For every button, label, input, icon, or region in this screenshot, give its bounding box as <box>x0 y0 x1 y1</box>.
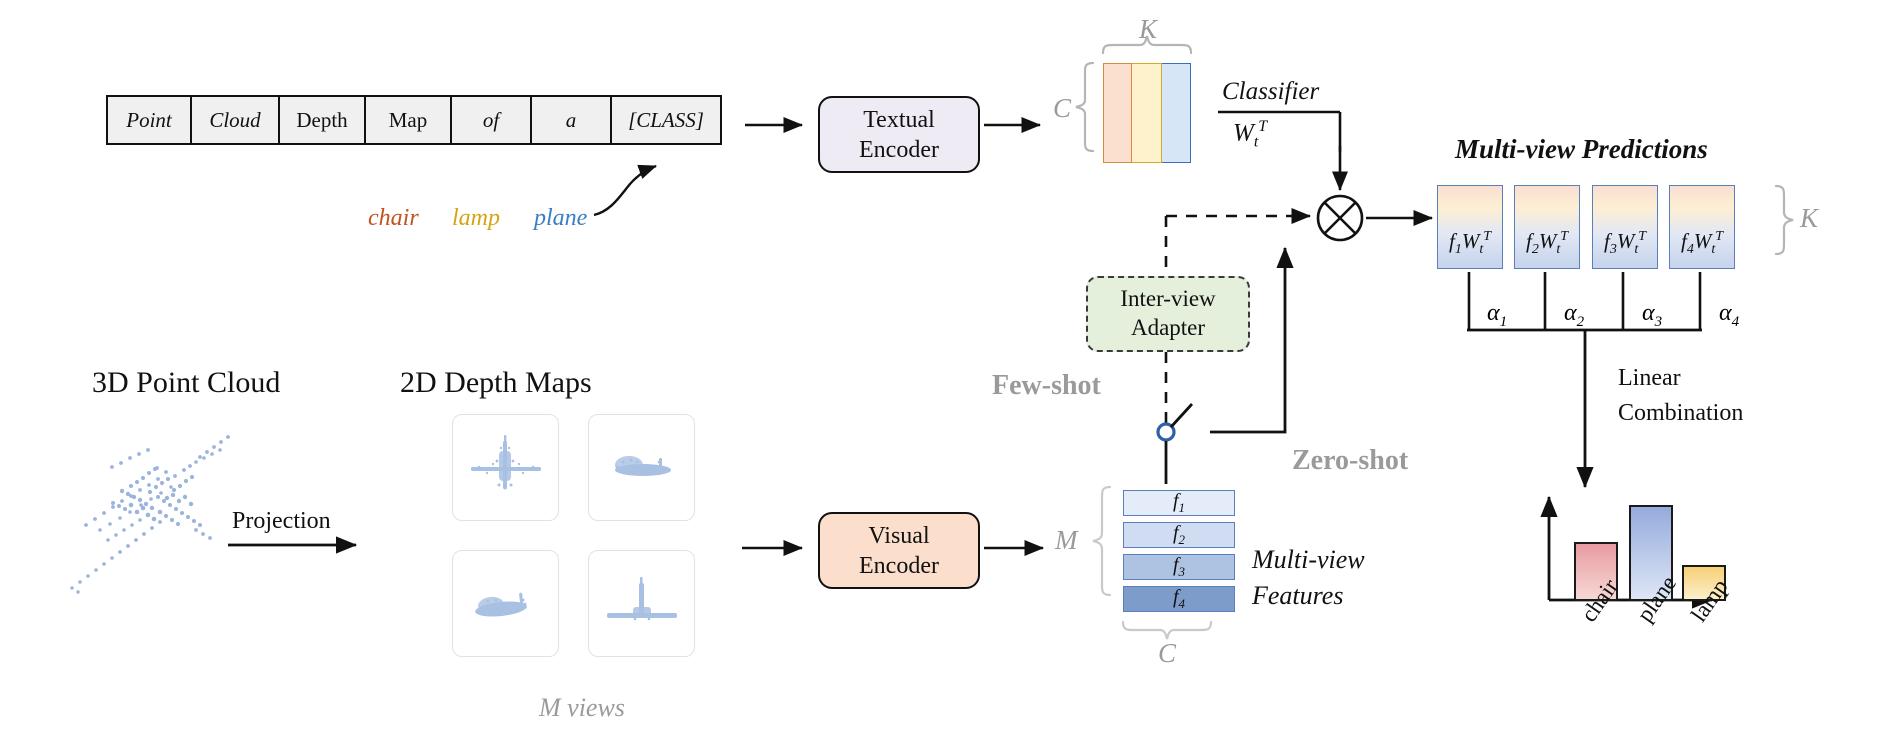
chart-xtick-chair: chair <box>1576 574 1624 627</box>
textual-encoder-label-line1: Textual <box>863 105 935 135</box>
textual-encoder-label-line2: Encoder <box>859 135 939 165</box>
depth-map-view-3[interactable] <box>452 550 559 657</box>
predictions-dim-k-label: K <box>1800 203 1818 234</box>
prompt-token-of[interactable]: of <box>452 97 532 143</box>
figure-canvas: Point Cloud Depth Map of a [CLASS] chair… <box>0 0 1882 746</box>
prompt-token-cloud[interactable]: Cloud <box>192 97 280 143</box>
multi-view-features-title-line1: Multi-view <box>1252 545 1365 575</box>
multi-view-features-title-line2: Features <box>1252 581 1343 611</box>
prompt-token-depth[interactable]: Depth <box>280 97 366 143</box>
alpha-weight-3: α3 <box>1642 300 1662 331</box>
prompt-token-a[interactable]: a <box>532 97 612 143</box>
adapter-label-line1: Inter-view <box>1120 285 1215 314</box>
linear-combination-line2: Combination <box>1618 400 1743 427</box>
visual-encoder-box[interactable]: Visual Encoder <box>818 512 980 589</box>
alpha-weight-1: α1 <box>1487 300 1507 331</box>
alpha-weight-2: α2 <box>1564 300 1584 331</box>
classifier-weight-symbol: W <box>1233 119 1254 146</box>
depth-maps-title: 2D Depth Maps <box>400 366 592 400</box>
feature-bar-4-label: f4 <box>1173 586 1185 612</box>
classifier-dim-c-label: C <box>1053 93 1071 124</box>
classifier-title: Classifier <box>1222 78 1319 106</box>
class-word-lamp[interactable]: lamp <box>452 205 500 232</box>
depth-map-view-4[interactable] <box>588 550 695 657</box>
prompt-token-point[interactable]: Point <box>108 97 192 143</box>
prompt-token-class[interactable]: [CLASS] <box>612 97 720 143</box>
feature-bar-3-label: f3 <box>1173 554 1185 580</box>
adapter-label-line2: Adapter <box>1131 314 1205 343</box>
feature-bar-3[interactable]: f3 <box>1123 554 1235 580</box>
chart-xtick-lamp: lamp <box>1686 574 1734 627</box>
features-dim-m-label: M <box>1055 525 1078 556</box>
prediction-box-3[interactable]: f3WtT <box>1592 185 1658 269</box>
feature-bar-2-label: f2 <box>1173 522 1185 548</box>
depth-map-view-4-image <box>589 551 694 656</box>
feature-bar-1[interactable]: f1 <box>1123 490 1235 516</box>
feature-bar-2[interactable]: f2 <box>1123 522 1235 548</box>
depth-map-view-2[interactable] <box>588 414 695 521</box>
chart-xtick-plane: plane <box>1632 571 1682 627</box>
depth-map-view-2-image <box>589 415 694 520</box>
prompt-template-row: Point Cloud Depth Map of a [CLASS] <box>106 95 722 145</box>
point-cloud-title: 3D Point Cloud <box>92 366 280 400</box>
class-word-plane[interactable]: plane <box>534 205 587 232</box>
point-cloud-scatter <box>70 435 230 594</box>
prediction-box-2-label: f2WtT <box>1526 229 1568 268</box>
prompt-token-map[interactable]: Map <box>366 97 452 143</box>
classifier-weight-formula: WtT <box>1233 118 1267 151</box>
classifier-dim-k-label: K <box>1139 14 1157 45</box>
feature-bar-1-label: f1 <box>1173 490 1185 516</box>
classifier-column-plane <box>1162 63 1191 163</box>
depth-maps-caption: M views <box>539 693 625 723</box>
projection-label: Projection <box>232 508 331 535</box>
prediction-box-2[interactable]: f2WtT <box>1514 185 1580 269</box>
classifier-matrix <box>1103 63 1191 163</box>
depth-map-view-3-image <box>453 551 558 656</box>
prediction-box-3-label: f3WtT <box>1604 229 1646 268</box>
classifier-weight-superscript: T <box>1258 118 1267 135</box>
linear-combination-line1: Linear <box>1618 365 1681 392</box>
zero-shot-label: Zero-shot <box>1292 445 1408 477</box>
visual-encoder-label-line1: Visual <box>868 521 929 551</box>
class-word-chair[interactable]: chair <box>368 205 419 232</box>
visual-encoder-label-line2: Encoder <box>859 551 939 581</box>
textual-encoder-box[interactable]: Textual Encoder <box>818 96 980 173</box>
alpha-weight-4: α4 <box>1719 300 1739 331</box>
prediction-box-1[interactable]: f1WtT <box>1437 185 1503 269</box>
feature-bar-4[interactable]: f4 <box>1123 586 1235 612</box>
classifier-column-chair <box>1103 63 1132 163</box>
prediction-box-4-label: f4WtT <box>1681 229 1723 268</box>
multi-view-predictions-title: Multi-view Predictions <box>1455 134 1708 165</box>
classifier-weight-subscript: t <box>1254 133 1258 150</box>
prediction-box-1-label: f1WtT <box>1449 229 1491 268</box>
classifier-column-lamp <box>1132 63 1161 163</box>
features-dim-c-label: C <box>1158 638 1176 669</box>
few-shot-label: Few-shot <box>992 370 1101 402</box>
prediction-box-4[interactable]: f4WtT <box>1669 185 1735 269</box>
depth-map-view-1[interactable] <box>452 414 559 521</box>
depth-map-view-1-image <box>453 415 558 520</box>
inter-view-adapter-box[interactable]: Inter-view Adapter <box>1086 276 1250 352</box>
